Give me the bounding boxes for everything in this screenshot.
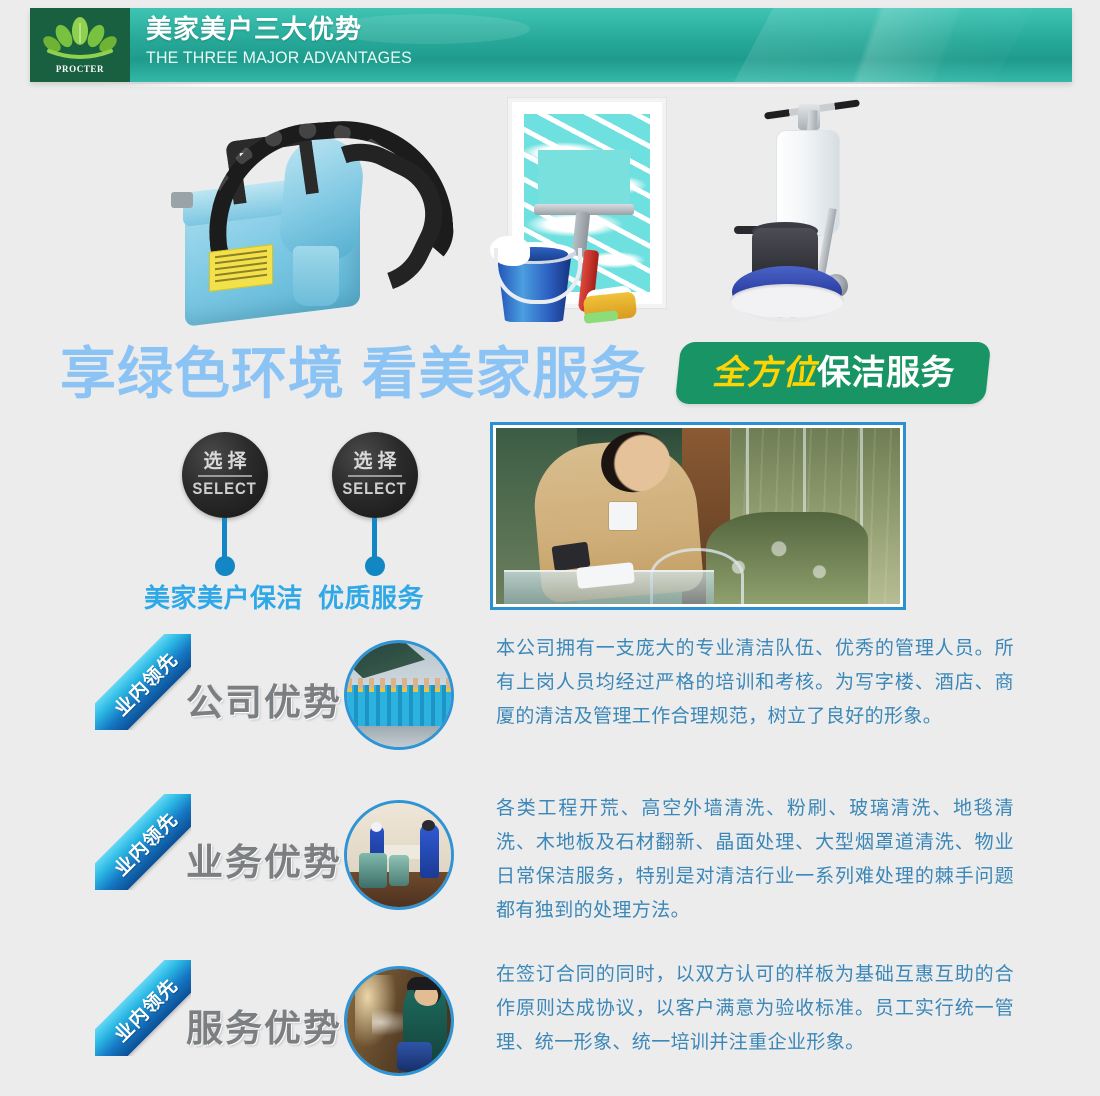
squeegee-clean-area bbox=[538, 150, 630, 206]
advantage-text-2: 各类工程开荒、高空外墙清洗、粉刷、玻璃清洗、地毯清洗、木地板及石材翻新、晶面处理… bbox=[496, 792, 1014, 928]
sprayer-yellow-label bbox=[209, 244, 273, 292]
polisher-pad-rim bbox=[730, 284, 844, 318]
team-photo-ground bbox=[347, 724, 451, 747]
sprayer-cap bbox=[171, 192, 193, 208]
header-sheen-diagonal bbox=[720, 8, 1044, 82]
restaurant-worker-2 bbox=[420, 824, 439, 878]
restaurant-cleaning-photo bbox=[347, 803, 451, 907]
sponge-scrub-pad bbox=[584, 310, 619, 323]
advantage-text-1: 本公司拥有一支庞大的专业清洁队伍、优秀的管理人员。所有上岗人员均经过严格的培训和… bbox=[496, 632, 1014, 734]
full-service-badge: 全方位保洁服务 bbox=[675, 342, 992, 404]
ribbon-label-2: 业内领先 bbox=[107, 805, 183, 881]
window-cleaning-image bbox=[498, 98, 658, 318]
advantage-title-1: 公司优势 bbox=[186, 672, 342, 726]
service-spraying-photo bbox=[347, 969, 451, 1073]
team-photo-heads bbox=[347, 678, 451, 687]
page-subtitle: THE THREE MAJOR ADVANTAGES bbox=[146, 46, 412, 70]
advantage-title-2: 业务优势 bbox=[186, 832, 342, 886]
select-label-2: 优质服务 bbox=[318, 578, 424, 615]
main-headline: 享绿色环境 看美家服务 bbox=[60, 342, 647, 406]
select-circle-1-cn: 选择 bbox=[198, 451, 251, 477]
ribbon-label-3: 业内领先 bbox=[107, 971, 183, 1047]
product-image-strip bbox=[0, 88, 1100, 338]
restaurant-chair-2 bbox=[389, 855, 410, 886]
logo-wordmark: PROCTER bbox=[56, 64, 104, 74]
advantage-photo-2 bbox=[344, 800, 454, 910]
header-underline-decoration bbox=[100, 84, 1000, 87]
select-circle-2[interactable]: 选择 SELECT bbox=[332, 432, 418, 518]
service-worker-cap bbox=[407, 977, 444, 989]
header-title-group: 美家美户三大优势 THE THREE MAJOR ADVANTAGES bbox=[146, 12, 429, 70]
worker-photo-content bbox=[496, 428, 900, 604]
select-label-1: 美家美户保洁 bbox=[144, 578, 303, 615]
select-circle-1[interactable]: 选择 SELECT bbox=[182, 432, 268, 518]
ribbon-corner-1: 业内领先 bbox=[95, 634, 191, 730]
photo-worker-id-badge bbox=[609, 502, 637, 530]
worker-cleaning-photo bbox=[490, 422, 906, 610]
select-circle-2-cn: 选择 bbox=[348, 451, 401, 477]
service-spray-machine bbox=[397, 1042, 432, 1071]
page-header-banner: PROCTER 美家美户三大优势 THE THREE MAJOR ADVANTA… bbox=[30, 8, 1072, 82]
advantage-photo-3 bbox=[344, 966, 454, 1076]
advantage-text-3: 在签订合同的同时，以双方认可的样板为基础互惠互助的合作原则达成协议，以客户满意为… bbox=[496, 958, 1014, 1060]
select-circle-2-en: SELECT bbox=[343, 479, 407, 499]
select-circle-1-en: SELECT bbox=[193, 479, 257, 499]
page-title: 美家美户三大优势 bbox=[146, 12, 429, 46]
team-lineup-photo bbox=[347, 643, 451, 747]
leaf-crown-icon bbox=[43, 17, 117, 63]
select-pin-dot-1 bbox=[215, 556, 235, 576]
restaurant-chair-1 bbox=[359, 853, 386, 888]
company-logo: PROCTER bbox=[30, 8, 130, 82]
ribbon-band-3: 业内领先 bbox=[95, 960, 191, 1056]
badge-text-group: 全方位保洁服务 bbox=[712, 353, 955, 393]
ribbon-band-1: 业内领先 bbox=[95, 634, 191, 730]
ribbon-corner-3: 业内领先 bbox=[95, 960, 191, 1056]
ribbon-label-1: 业内领先 bbox=[107, 645, 183, 721]
header-sheen-decoration bbox=[742, 8, 1072, 82]
badge-highlight-text: 全方位 bbox=[712, 354, 817, 392]
advantage-title-3: 服务优势 bbox=[186, 998, 342, 1052]
ulv-sprayer-image bbox=[165, 96, 465, 336]
select-pin-dot-2 bbox=[365, 556, 385, 576]
advantages-page: PROCTER 美家美户三大优势 THE THREE MAJOR ADVANTA… bbox=[0, 0, 1100, 1096]
advantage-photo-1 bbox=[344, 640, 454, 750]
water-bucket bbox=[490, 236, 580, 322]
ribbon-corner-2: 业内领先 bbox=[95, 794, 191, 890]
floor-polisher-image bbox=[724, 88, 904, 338]
ribbon-band-2: 业内领先 bbox=[95, 794, 191, 890]
badge-rest-text: 保洁服务 bbox=[817, 354, 955, 392]
